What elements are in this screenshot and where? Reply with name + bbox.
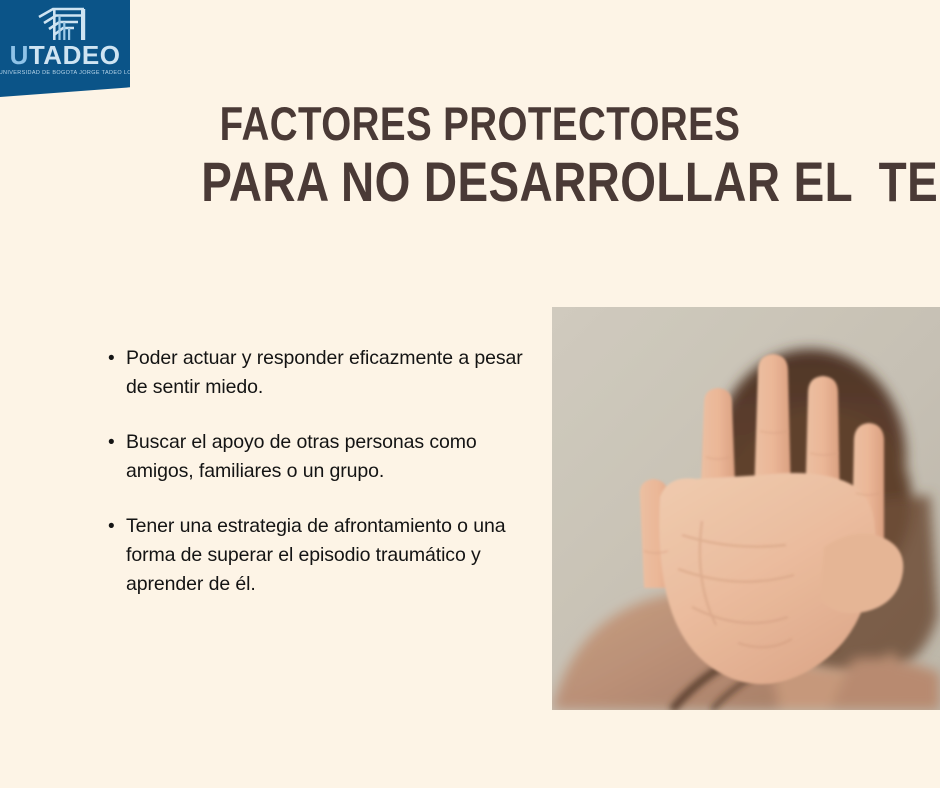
list-item: • Poder actuar y responder eficazmente a… — [108, 344, 528, 402]
page-title: FACTORES PROTECTORES PARA NO DESARROLLAR… — [140, 96, 820, 213]
logo-wordmark: UTADEO — [0, 42, 130, 68]
list-item: • Tener una estrategia de afrontamiento … — [108, 512, 528, 599]
protective-factors-list: • Poder actuar y responder eficazmente a… — [108, 344, 528, 599]
logo-wordmark-rest: TADEO — [29, 40, 121, 70]
logo-tagline: UNIVERSIDAD DE BOGOTA JORGE TADEO LOZANO — [0, 71, 131, 76]
logo-wordmark-u: U — [10, 40, 29, 70]
title-line-1: FACTORES PROTECTORES — [201, 96, 759, 151]
title-line-2: PARA NO DESARROLLAR EL TEPT — [201, 151, 759, 213]
list-item-text: Tener una estrategia de afrontamiento o … — [126, 512, 528, 599]
logo-inner: UTADEO UNIVERSIDAD DE BOGOTA JORGE TADEO… — [0, 0, 130, 97]
bullet-marker-icon: • — [108, 512, 126, 541]
poster-slide: UTADEO UNIVERSIDAD DE BOGOTA JORGE TADEO… — [0, 0, 940, 788]
stop-gesture-photo — [552, 307, 940, 710]
utadeo-logo-panel: UTADEO UNIVERSIDAD DE BOGOTA JORGE TADEO… — [0, 0, 130, 97]
list-item: • Buscar el apoyo de otras personas como… — [108, 428, 528, 486]
list-item-text: Poder actuar y responder eficazmente a p… — [126, 344, 528, 402]
bullet-marker-icon: • — [108, 428, 126, 457]
list-item-text: Buscar el apoyo de otras personas como a… — [126, 428, 528, 486]
open-book-icon — [36, 6, 92, 42]
bullet-marker-icon: • — [108, 344, 126, 373]
